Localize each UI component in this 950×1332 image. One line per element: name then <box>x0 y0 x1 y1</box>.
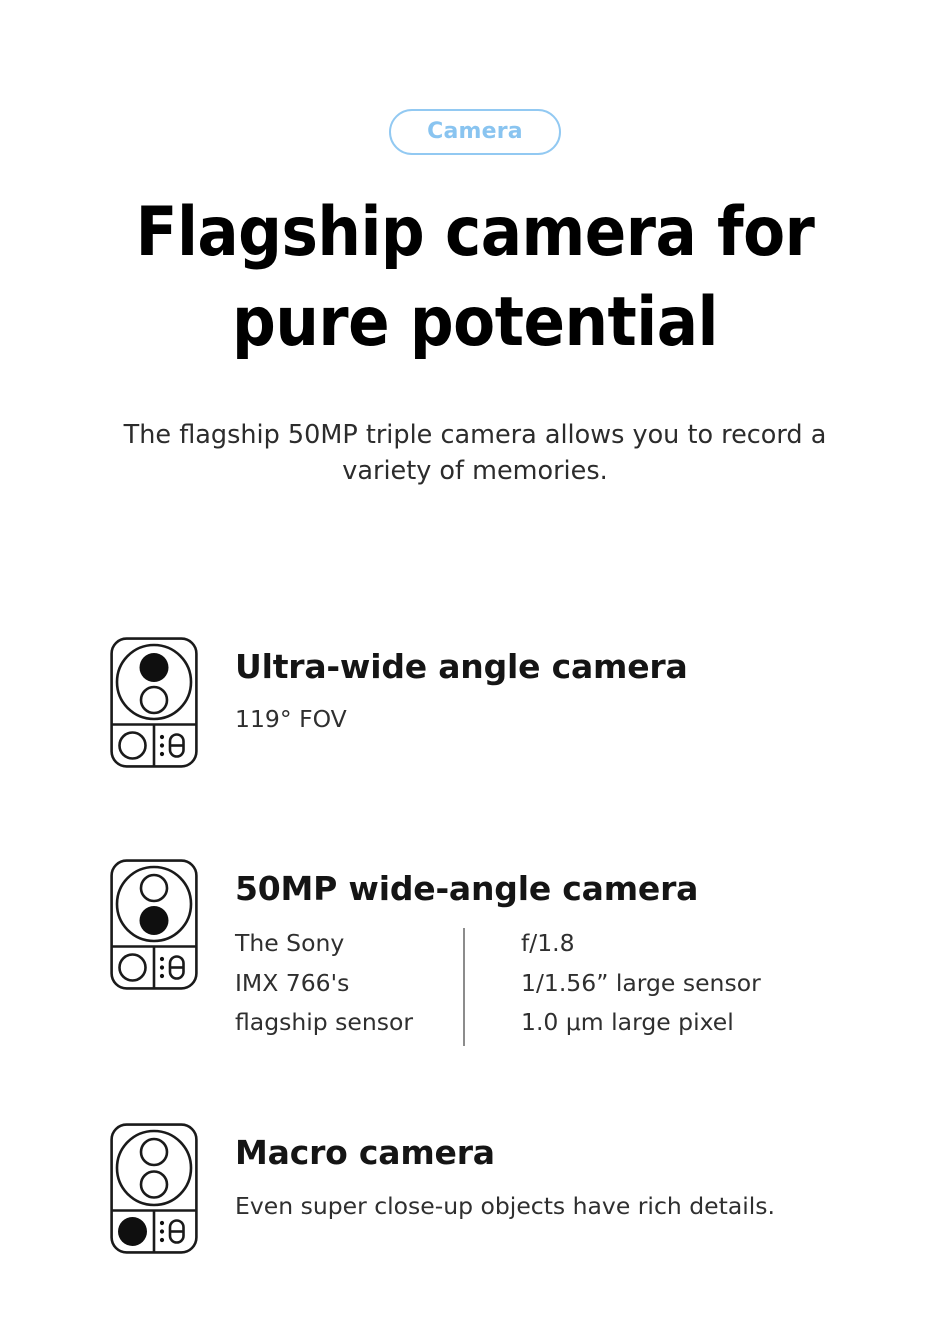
badge-row: Camera <box>0 0 950 155</box>
page-subtitle-line-1: The flagship 50MP triple camera allows y… <box>90 417 860 453</box>
feature-desc-ultra-wide: 119° FOV <box>235 685 950 736</box>
page-subtitle-line-2: variety of memories. <box>90 453 860 489</box>
spec-column-sensor: The Sony IMX 766's flagship sensor <box>235 924 463 1046</box>
camera-module-icon-macro <box>110 1123 198 1254</box>
feature-body-ultra-wide: Ultra-wide angle camera 119° FOV <box>198 637 950 736</box>
feature-title-macro: Macro camera <box>235 1135 950 1171</box>
feature-body-wide-angle: 50MP wide-angle camera The Sony IMX 766'… <box>198 859 950 1046</box>
page-subtitle: The flagship 50MP triple camera allows y… <box>0 369 950 489</box>
page-title-line-1: Flagship camera for <box>45 188 905 278</box>
section-badge-camera: Camera <box>389 109 561 155</box>
camera-module-icon-wideangle <box>110 859 198 990</box>
spec-column-optics: f/1.8 1/1.56” large sensor 1.0 μm large … <box>465 924 761 1046</box>
feature-body-macro: Macro camera Even super close-up objects… <box>198 1123 950 1222</box>
feature-item-ultra-wide: Ultra-wide angle camera 119° FOV <box>0 637 950 768</box>
feature-title-ultra-wide: Ultra-wide angle camera <box>235 649 950 685</box>
page-title-line-2: pure potential <box>45 278 905 368</box>
feature-title-wide-angle: 50MP wide-angle camera <box>235 871 950 907</box>
feature-item-wide-angle: 50MP wide-angle camera The Sony IMX 766'… <box>0 859 950 1046</box>
feature-spec-columns: The Sony IMX 766's flagship sensor f/1.8… <box>235 907 950 1046</box>
page-title: Flagship camera for pure potential <box>0 155 950 369</box>
feature-list: Ultra-wide angle camera 119° FOV <box>0 600 950 1254</box>
feature-desc-macro: Even super close-up objects have rich de… <box>235 1172 950 1223</box>
feature-item-macro: Macro camera Even super close-up objects… <box>0 1123 950 1254</box>
camera-feature-page: Camera Flagship camera for pure potentia… <box>0 0 950 1332</box>
camera-module-icon-ultrawide <box>110 637 198 768</box>
